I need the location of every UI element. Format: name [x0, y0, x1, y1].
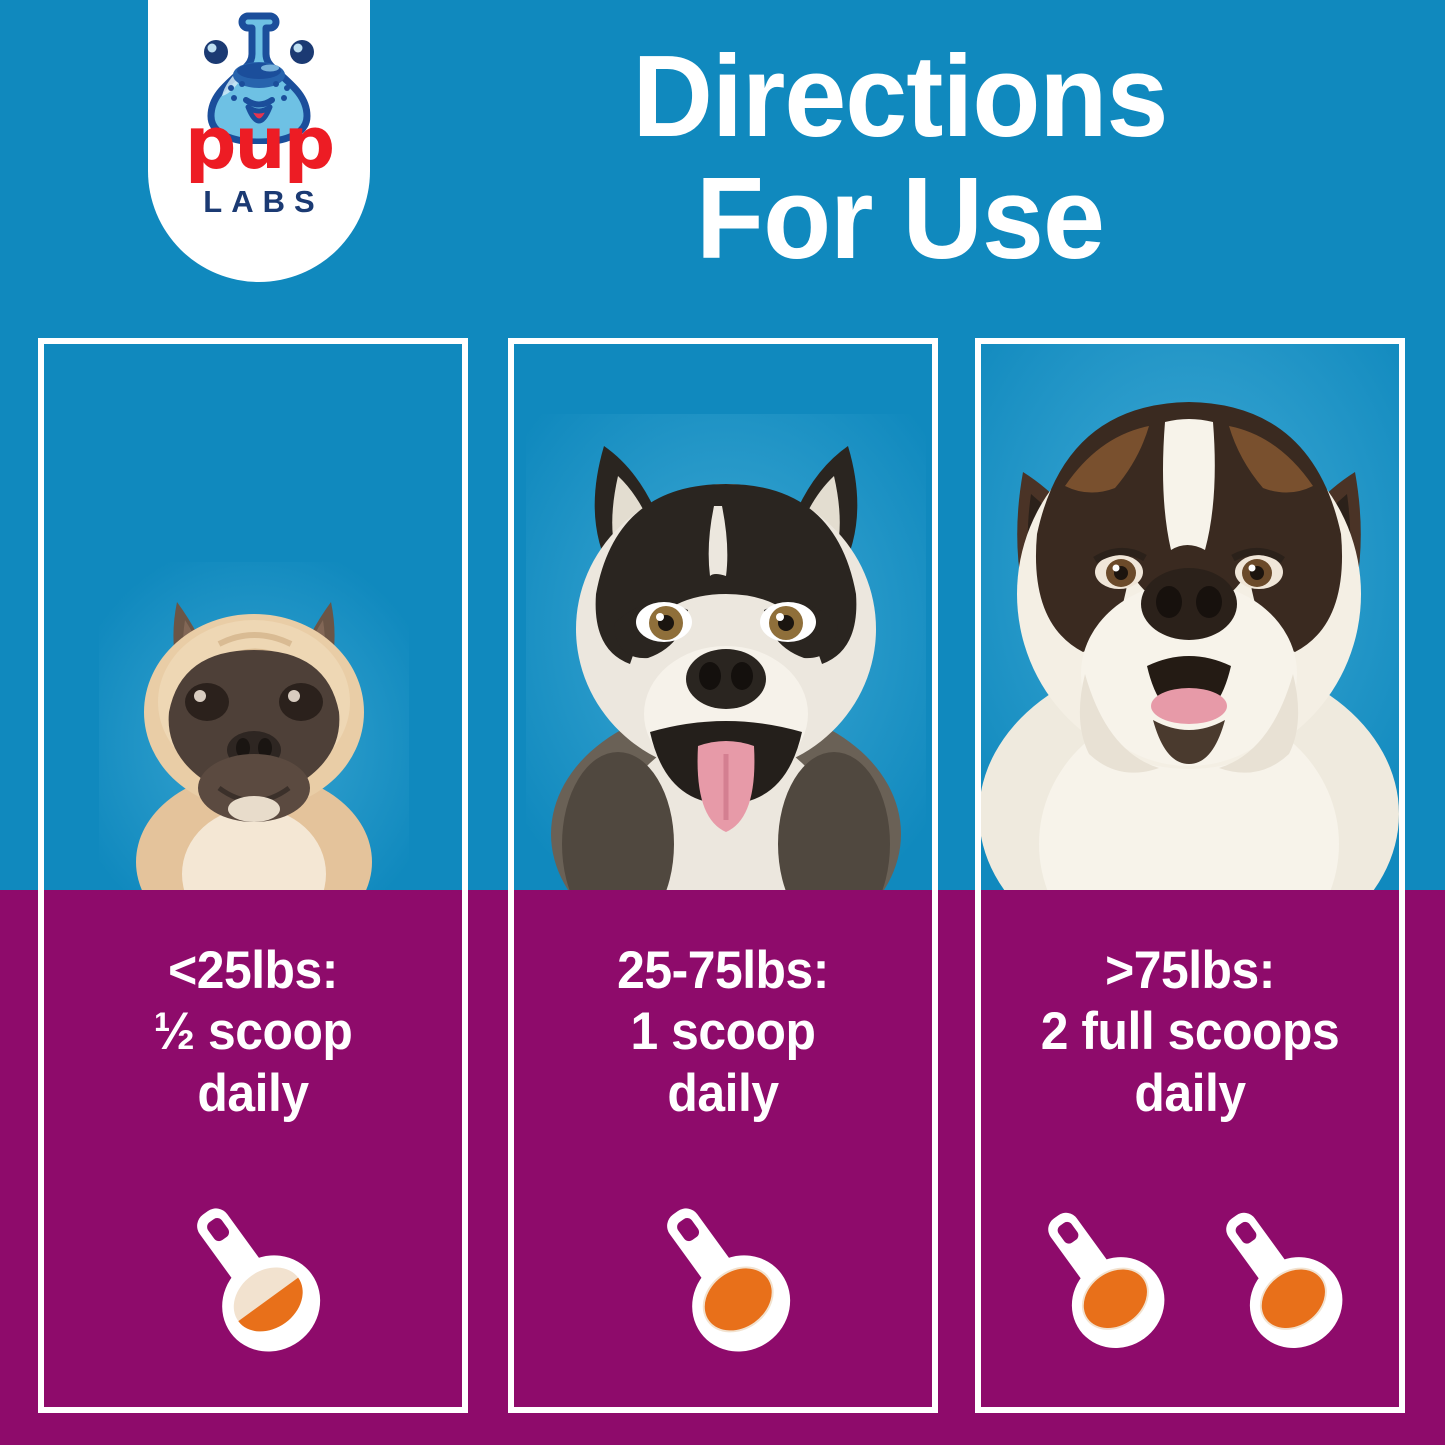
dosage-text-medium: 25-75lbs: 1 scoop daily — [527, 940, 920, 1124]
dosage-text-large: >75lbs: 2 full scoops daily — [994, 940, 1387, 1124]
dosage-card-medium: 25-75lbs: 1 scoop daily — [508, 338, 938, 1413]
weight-label-small: <25lbs: — [57, 940, 450, 1001]
page-title: Directions For Use — [410, 36, 1389, 280]
half-scoop-icon — [153, 1207, 353, 1367]
brand-name-labs: LABS — [148, 184, 370, 220]
dosage-card-large: >75lbs: 2 full scoops daily — [975, 338, 1405, 1413]
brand-logo-badge: pup LABS — [148, 0, 370, 282]
french-bulldog-photo — [44, 344, 462, 890]
amount-line2-medium: daily — [527, 1063, 920, 1124]
amount-line1-medium: 1 scoop — [527, 1001, 920, 1062]
saint-bernard-photo — [981, 344, 1399, 890]
scoop-group-large — [981, 1207, 1399, 1367]
dosage-card-small: <25lbs: ½ scoop daily — [38, 338, 468, 1413]
page-title-line-2: For Use — [410, 158, 1389, 280]
full-scoop-icon — [1194, 1207, 1364, 1367]
brand-name-pup: pup — [148, 118, 370, 170]
amount-line1-large: 2 full scoops — [994, 1001, 1387, 1062]
full-scoop-icon — [623, 1207, 823, 1367]
page-title-line-1: Directions — [633, 31, 1168, 161]
directions-for-use-infographic: pup LABS Directions For Use — [0, 0, 1445, 1445]
amount-line2-small: daily — [57, 1063, 450, 1124]
full-scoop-icon — [1016, 1207, 1186, 1367]
dosage-text-small: <25lbs: ½ scoop daily — [57, 940, 450, 1124]
amount-line1-small: ½ scoop — [57, 1001, 450, 1062]
scoop-group-medium — [514, 1207, 932, 1367]
weight-label-large: >75lbs: — [994, 940, 1387, 1001]
siberian-husky-photo — [514, 344, 932, 890]
weight-label-medium: 25-75lbs: — [527, 940, 920, 1001]
amount-line2-large: daily — [994, 1063, 1387, 1124]
scoop-group-small — [44, 1207, 462, 1367]
